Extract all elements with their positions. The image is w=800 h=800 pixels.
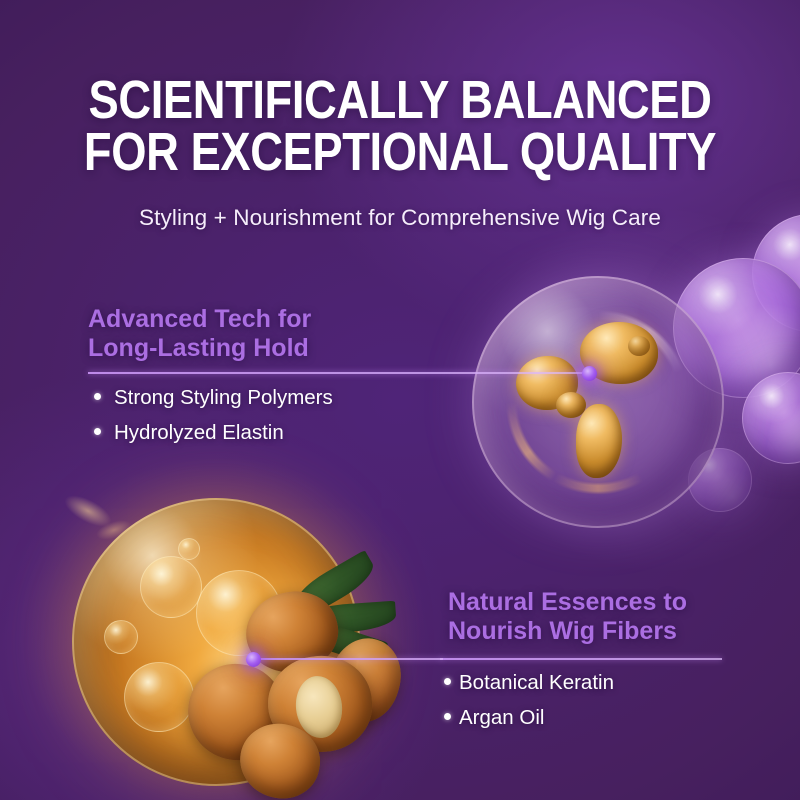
feature-bullet-list-advanced-tech: Strong Styling Polymers Hydrolyzed Elast… bbox=[94, 388, 333, 443]
list-item: Hydrolyzed Elastin bbox=[94, 423, 333, 444]
argan-nut-icon bbox=[183, 659, 289, 765]
capsule-rim-highlight bbox=[472, 276, 724, 528]
list-item: Strong Styling Polymers bbox=[94, 388, 333, 409]
oil-inner-bubble-icon bbox=[178, 538, 200, 560]
bullet-dot-icon bbox=[444, 713, 451, 720]
gold-droplet-icon bbox=[556, 392, 586, 418]
argan-nut-icon bbox=[265, 652, 375, 755]
feature-title-natural-essences: Natural Essences to Nourish Wig Fibers bbox=[448, 588, 687, 646]
feature-divider bbox=[88, 372, 588, 374]
list-item-label: Hydrolyzed Elastin bbox=[114, 423, 284, 444]
olive-leaf-icon bbox=[306, 619, 388, 668]
oil-inner-bubble-icon bbox=[104, 620, 138, 654]
gold-droplet-icon bbox=[628, 336, 650, 356]
list-item-label: Botanical Keratin bbox=[459, 673, 614, 694]
feature-bullet-list-natural-essences: Botanical Keratin Argan Oil bbox=[444, 673, 614, 728]
lavender-bubble-icon bbox=[688, 448, 752, 512]
bullet-dot-icon bbox=[94, 393, 101, 400]
light-flare bbox=[60, 489, 116, 533]
lavender-bubble-icon bbox=[752, 214, 800, 332]
argan-kernel-icon bbox=[293, 674, 345, 740]
bubble-glow bbox=[460, 200, 800, 580]
list-item: Argan Oil bbox=[444, 708, 614, 729]
serum-capsule-image bbox=[472, 276, 724, 528]
lavender-bubble-icon bbox=[742, 372, 800, 464]
olive-leaf-icon bbox=[288, 550, 379, 620]
lavender-bubble-icon bbox=[673, 258, 800, 398]
argan-oil-bubble-image bbox=[72, 498, 360, 786]
argan-nut-icon bbox=[234, 718, 326, 800]
olive-leaf-icon bbox=[299, 601, 397, 636]
oil-inner-bubble-icon bbox=[196, 570, 282, 656]
feature-divider bbox=[440, 658, 722, 660]
connector-line-natural-essences bbox=[253, 658, 443, 660]
bullet-dot-icon bbox=[444, 678, 451, 685]
list-item-label: Argan Oil bbox=[459, 708, 544, 729]
bullet-dot-icon bbox=[94, 428, 101, 435]
list-item: Botanical Keratin bbox=[444, 673, 614, 694]
connector-node-natural-essences bbox=[246, 652, 261, 667]
gold-droplet-icon bbox=[516, 356, 578, 410]
light-flare bbox=[94, 517, 133, 543]
page-subtitle: Styling + Nourishment for Comprehensive … bbox=[0, 205, 800, 231]
oil-inner-bubble-icon bbox=[140, 556, 202, 618]
connector-node-advanced-tech bbox=[582, 366, 597, 381]
gold-droplet-icon bbox=[576, 404, 622, 478]
page-title: SCIENTIFICALLY BALANCED FOR EXCEPTIONAL … bbox=[64, 74, 736, 179]
argan-nut-icon bbox=[320, 630, 410, 730]
oil-inner-bubble-icon bbox=[124, 662, 194, 732]
product-feature-poster: SCIENTIFICALLY BALANCED FOR EXCEPTIONAL … bbox=[0, 0, 800, 800]
oil-glow bbox=[10, 450, 430, 800]
list-item-label: Strong Styling Polymers bbox=[114, 388, 333, 409]
feature-title-advanced-tech: Advanced Tech for Long-Lasting Hold bbox=[88, 305, 311, 363]
